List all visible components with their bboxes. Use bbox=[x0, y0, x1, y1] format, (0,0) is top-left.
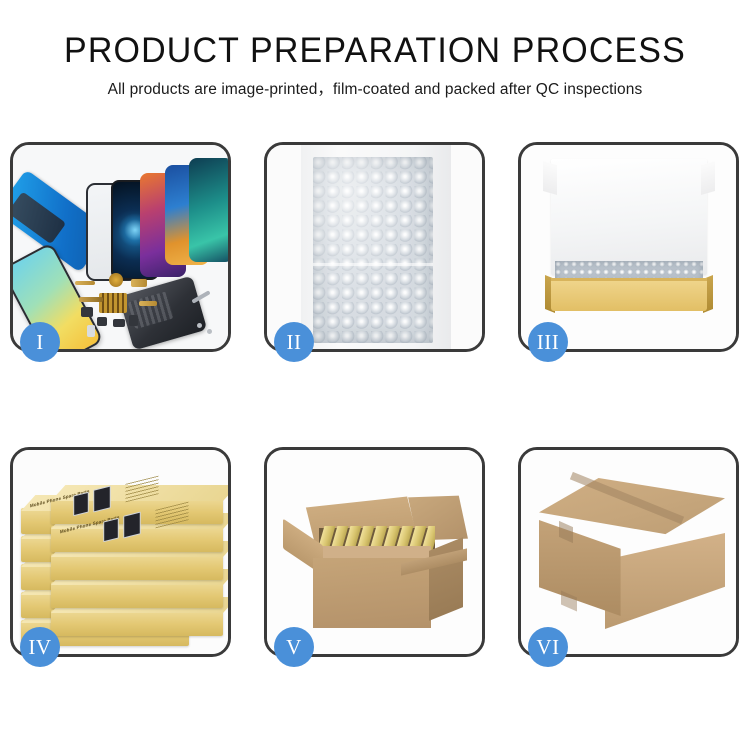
stacked-box-front bbox=[51, 554, 223, 580]
box-screen-graphic bbox=[123, 511, 140, 538]
step-badge-4: IV bbox=[20, 627, 60, 667]
step-3-image bbox=[521, 145, 736, 349]
process-step-2: II bbox=[264, 142, 485, 352]
bracket-part bbox=[131, 279, 147, 287]
process-step-3: III bbox=[518, 142, 739, 352]
step-4-image: Mobile Phone Spare Parts Mobile Phone Sp… bbox=[13, 450, 228, 654]
product-preparation-page: PRODUCT PREPARATION PROCESS All products… bbox=[0, 0, 750, 750]
box-lid-white bbox=[551, 159, 707, 275]
speaker-part bbox=[109, 273, 123, 287]
camera-module-part bbox=[81, 307, 93, 317]
vibrator-part bbox=[97, 317, 107, 326]
step-badge-2: II bbox=[274, 322, 314, 362]
sim-tray-part bbox=[129, 315, 138, 326]
bubble-wrap-sheet bbox=[313, 157, 433, 343]
antenna-part bbox=[139, 301, 157, 306]
step-badge-5: V bbox=[274, 627, 314, 667]
stacked-box-front bbox=[51, 582, 223, 608]
bubble-wrap-seam bbox=[313, 263, 433, 266]
open-carton bbox=[283, 486, 467, 636]
process-step-4: Mobile Phone Spare Parts Mobile Phone Sp… bbox=[10, 447, 231, 657]
step-badge-6: VI bbox=[528, 627, 568, 667]
step-badge-1: I bbox=[20, 322, 60, 362]
step-5-image bbox=[267, 450, 482, 654]
box-screen-graphic bbox=[73, 492, 89, 516]
page-subtitle: All products are image-printed，film-coat… bbox=[0, 78, 750, 102]
step-badge-3: III bbox=[528, 322, 568, 362]
box-stack: Mobile Phone Spare Parts Mobile Phone Sp… bbox=[21, 470, 225, 646]
process-step-6: VI bbox=[518, 447, 739, 657]
phone-screen-teal bbox=[189, 158, 228, 262]
step-1-image bbox=[13, 145, 228, 349]
inner-box bbox=[545, 261, 713, 317]
step-6-image bbox=[521, 450, 736, 654]
flex-cable-part bbox=[75, 281, 95, 285]
ic-chip-part bbox=[99, 293, 127, 313]
carton-right-face bbox=[605, 533, 725, 629]
page-header: PRODUCT PREPARATION PROCESS All products… bbox=[0, 0, 750, 102]
box-screen-graphic bbox=[93, 485, 110, 512]
sealed-carton bbox=[539, 478, 725, 640]
ribbon-cable-part bbox=[79, 297, 103, 302]
stacked-box-front bbox=[51, 610, 223, 636]
screw-part bbox=[197, 323, 202, 328]
connector-part bbox=[87, 325, 95, 337]
step-2-image bbox=[267, 145, 482, 349]
process-step-5: V bbox=[264, 447, 485, 657]
page-title: PRODUCT PREPARATION PROCESS bbox=[11, 30, 739, 72]
process-step-1: I bbox=[10, 142, 231, 352]
button-part bbox=[113, 319, 125, 327]
box-screen-graphic bbox=[103, 518, 119, 542]
process-step-grid: I II III bbox=[10, 142, 740, 657]
screw-part bbox=[207, 329, 212, 334]
box-front-panel bbox=[551, 281, 707, 311]
